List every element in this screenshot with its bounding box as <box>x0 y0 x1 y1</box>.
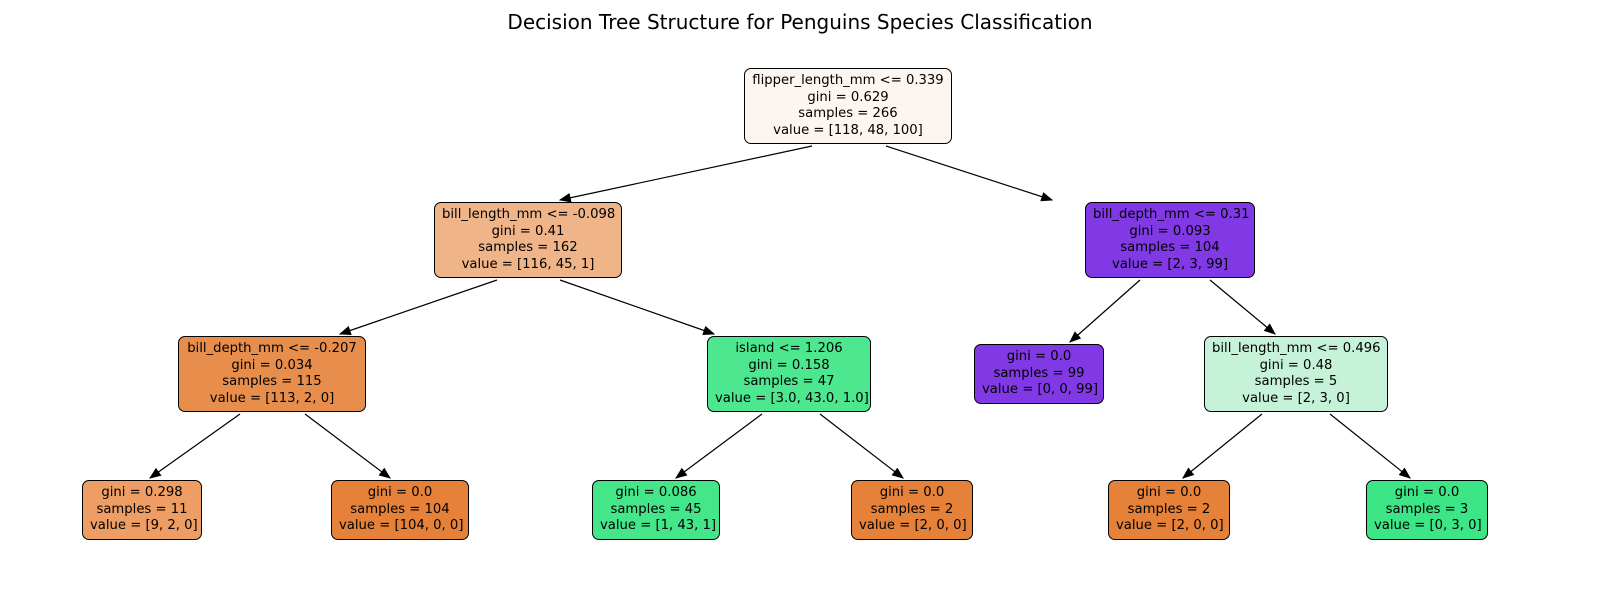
tree-node-text-line: samples = 115 <box>186 374 358 391</box>
tree-node-text-line: gini = 0.48 <box>1212 358 1380 375</box>
tree-leaf-node: gini = 0.0samples = 2value = [2, 0, 0] <box>1108 480 1230 540</box>
tree-node-text-line: samples = 162 <box>442 240 614 257</box>
tree-node-text-line: samples = 3 <box>1374 502 1480 519</box>
tree-node-text-line: gini = 0.41 <box>442 224 614 241</box>
tree-edge <box>886 146 1052 200</box>
tree-node-text-line: gini = 0.086 <box>600 485 712 502</box>
tree-node-text-line: gini = 0.0 <box>1374 485 1480 502</box>
tree-decision-node: flipper_length_mm <= 0.339gini = 0.629sa… <box>744 68 952 144</box>
tree-edge <box>560 280 714 334</box>
tree-decision-node: bill_length_mm <= -0.098gini = 0.41sampl… <box>434 202 622 278</box>
tree-node-text-line: samples = 99 <box>982 366 1096 383</box>
tree-edge-group <box>150 146 1410 478</box>
tree-node-text-line: samples = 266 <box>752 106 944 123</box>
tree-node-text-line: value = [0, 3, 0] <box>1374 518 1480 535</box>
tree-node-text-line: samples = 5 <box>1212 374 1380 391</box>
tree-node-text-line: samples = 2 <box>1116 502 1222 519</box>
tree-node-text-line: value = [2, 3, 99] <box>1093 257 1247 274</box>
tree-edge <box>150 414 240 478</box>
tree-edge <box>1070 280 1140 342</box>
tree-leaf-node: gini = 0.0samples = 104value = [104, 0, … <box>331 480 469 540</box>
tree-node-text-line: value = [2, 0, 0] <box>859 518 965 535</box>
tree-node-text-line: gini = 0.158 <box>715 358 863 375</box>
tree-edge <box>1330 414 1410 478</box>
tree-decision-node: bill_depth_mm <= 0.31gini = 0.093samples… <box>1085 202 1255 278</box>
tree-node-text-line: gini = 0.0 <box>1116 485 1222 502</box>
tree-node-text-line: value = [104, 0, 0] <box>339 518 461 535</box>
tree-leaf-node: gini = 0.0samples = 3value = [0, 3, 0] <box>1366 480 1488 540</box>
tree-node-text-line: gini = 0.093 <box>1093 224 1247 241</box>
tree-node-text-line: samples = 2 <box>859 502 965 519</box>
tree-node-text-line: value = [2, 0, 0] <box>1116 518 1222 535</box>
tree-edge <box>1210 280 1275 334</box>
tree-node-text-line: value = [3.0, 43.0, 1.0] <box>715 391 863 408</box>
tree-leaf-node: gini = 0.298samples = 11value = [9, 2, 0… <box>82 480 202 540</box>
tree-node-text-line: gini = 0.298 <box>90 485 194 502</box>
tree-node-text-line: value = [0, 0, 99] <box>982 382 1096 399</box>
tree-decision-node: bill_length_mm <= 0.496gini = 0.48sample… <box>1204 336 1388 412</box>
page-title: Decision Tree Structure for Penguins Spe… <box>0 10 1600 34</box>
tree-node-text-line: value = [2, 3, 0] <box>1212 391 1380 408</box>
tree-node-text-line: gini = 0.0 <box>982 349 1096 366</box>
tree-edge <box>305 414 390 478</box>
tree-node-text-line: samples = 104 <box>339 502 461 519</box>
tree-edge <box>1183 414 1262 478</box>
tree-node-text-line: gini = 0.0 <box>859 485 965 502</box>
tree-edge <box>340 280 497 334</box>
tree-leaf-node: gini = 0.086samples = 45value = [1, 43, … <box>592 480 720 540</box>
tree-node-text-line: gini = 0.0 <box>339 485 461 502</box>
tree-node-text-line: bill_depth_mm <= 0.31 <box>1093 207 1247 224</box>
decision-tree-figure: Decision Tree Structure for Penguins Spe… <box>0 0 1600 600</box>
tree-edge <box>676 414 762 478</box>
tree-node-text-line: flipper_length_mm <= 0.339 <box>752 73 944 90</box>
tree-node-text-line: bill_length_mm <= -0.098 <box>442 207 614 224</box>
tree-node-text-line: samples = 11 <box>90 502 194 519</box>
tree-leaf-node: gini = 0.0samples = 99value = [0, 0, 99] <box>974 344 1104 404</box>
tree-decision-node: island <= 1.206gini = 0.158samples = 47v… <box>707 336 871 412</box>
tree-node-text-line: value = [1, 43, 1] <box>600 518 712 535</box>
tree-node-text-line: value = [113, 2, 0] <box>186 391 358 408</box>
tree-node-text-line: samples = 104 <box>1093 240 1247 257</box>
tree-edge <box>820 414 903 478</box>
tree-decision-node: bill_depth_mm <= -0.207gini = 0.034sampl… <box>178 336 366 412</box>
tree-leaf-node: gini = 0.0samples = 2value = [2, 0, 0] <box>851 480 973 540</box>
tree-node-text-line: value = [116, 45, 1] <box>442 257 614 274</box>
tree-node-text-line: bill_depth_mm <= -0.207 <box>186 341 358 358</box>
tree-node-text-line: value = [118, 48, 100] <box>752 123 944 140</box>
tree-edge <box>560 146 812 200</box>
tree-node-text-line: samples = 45 <box>600 502 712 519</box>
tree-node-text-line: value = [9, 2, 0] <box>90 518 194 535</box>
tree-node-text-line: gini = 0.629 <box>752 90 944 107</box>
tree-node-text-line: samples = 47 <box>715 374 863 391</box>
tree-node-text-line: gini = 0.034 <box>186 358 358 375</box>
tree-node-text-line: bill_length_mm <= 0.496 <box>1212 341 1380 358</box>
tree-node-text-line: island <= 1.206 <box>715 341 863 358</box>
